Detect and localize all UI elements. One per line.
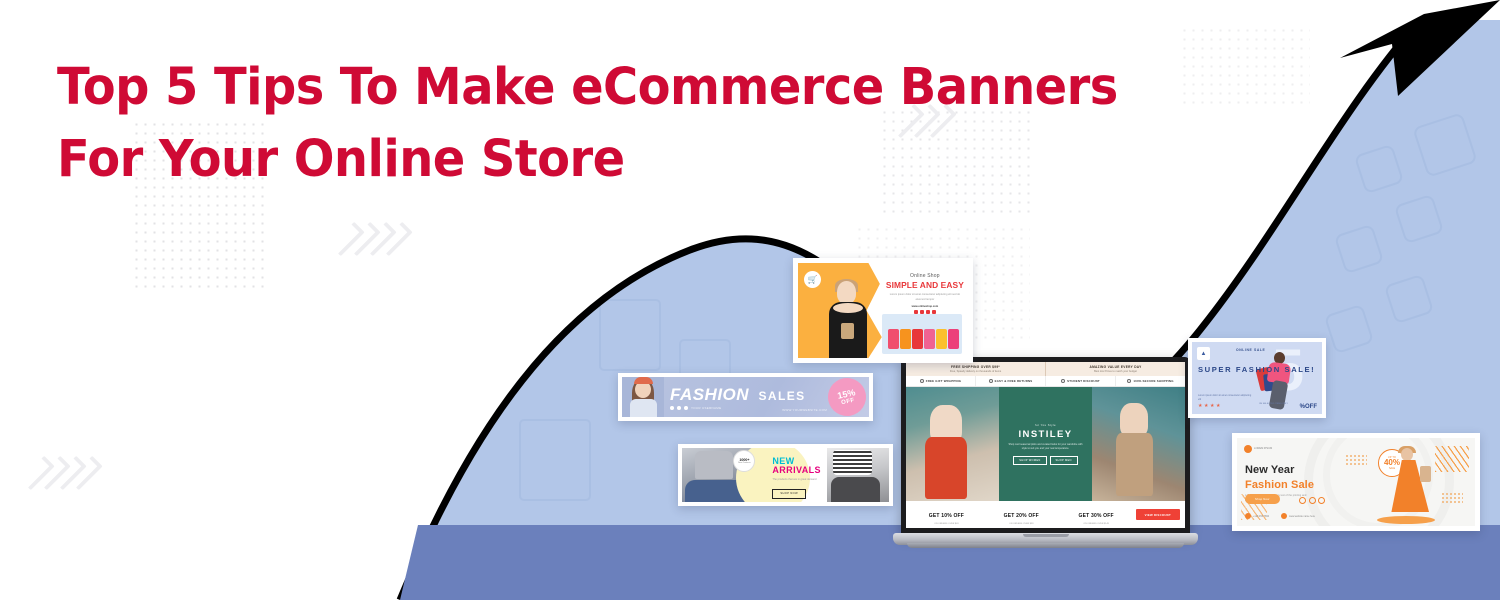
banner-kicker: Online Shop <box>886 273 964 279</box>
promo-label: GET 30% OFF <box>1079 513 1114 519</box>
topbar-sub: Best low Prices to match your budget <box>1048 370 1183 373</box>
banner-title-primary: New Year <box>1245 464 1295 476</box>
banner-new-arrivals[interactable]: 1000+ New Products NEW ARRIVALS The prod… <box>678 444 893 506</box>
hero-image-right <box>1092 387 1185 501</box>
banner-handle: YOUR USERNAME <box>691 406 721 410</box>
hero-buttons: SHOP WOMEN SHOP MEN <box>1013 456 1077 465</box>
topbar-item: FREE SHIPPING OVER $99* Free, Speedy del… <box>906 362 1045 376</box>
topbar-title: FREE SHIPPING OVER $99* <box>908 365 1043 369</box>
shop-now-button[interactable]: Shop Now <box>1245 494 1280 504</box>
banner-title-secondary: SALES <box>759 389 806 403</box>
banner-title-secondary: ARRIVALS <box>772 466 821 475</box>
hatch-pattern <box>1435 446 1469 472</box>
store-promo-bar: GET 10% OFF ON ORDERS OVER $49 GET 20% O… <box>906 501 1185 528</box>
badge-label: New Products <box>738 462 750 464</box>
banner-url: www.onlineshop.com <box>886 305 964 308</box>
social-icons[interactable] <box>1299 497 1325 504</box>
brand-logo: LOREM IPSUM <box>1244 445 1272 453</box>
promo-note: ON ORDERS OVER $149 <box>1061 523 1132 525</box>
promo-label: GET 20% OFF <box>1004 513 1039 519</box>
store-feature-row: FREE GIFT WRAPPING EASY & FREE RETURNS S… <box>906 376 1185 387</box>
feature-item[interactable]: STUDENT DISCOUNT <box>1045 376 1115 386</box>
feature-label: FREE GIFT WRAPPING <box>926 379 961 383</box>
topbar-sub: Free, Speedy delivery on thousands of it… <box>908 370 1043 373</box>
banner-body: Lorem ipsum dolor sit amet consectetur a… <box>886 293 964 302</box>
laptop-foot <box>907 543 1184 548</box>
phone-icon <box>1245 513 1251 519</box>
promo-note: ON ORDERS OVER $49 <box>911 523 982 525</box>
promo-item[interactable]: GET 20% OFF ON ORDERS OVER $99 <box>986 504 1057 525</box>
shop-women-button[interactable]: SHOP WOMEN <box>1013 456 1046 465</box>
banner-title: SUPER FASHION SALE! <box>1198 366 1315 375</box>
hero-brand: INSTILEY <box>1019 429 1073 440</box>
phone-number: +123 456 7890 <box>1253 515 1269 518</box>
banner-simple-and-easy[interactable]: 🛒 Online Shop SIMPLE AND EASY Lorem ipsu… <box>793 258 973 363</box>
banner-sub: Lorem ipsum dolor sit amet consectetur a… <box>1198 394 1254 402</box>
website-url: www.website name here <box>1289 515 1315 518</box>
gift-icon <box>920 379 924 383</box>
hero-kicker: for You Style <box>1035 423 1056 427</box>
store-topbar: FREE SHIPPING OVER $99* Free, Speedy del… <box>906 362 1185 376</box>
return-icon <box>989 379 993 383</box>
lock-icon <box>1127 379 1131 383</box>
discount-badge: 15% OFF <box>824 377 869 417</box>
shopping-cart-icon: 🛒 <box>804 271 821 288</box>
chevrons-right-icon <box>30 456 93 490</box>
banner-sub: The products that are in great demand <box>772 478 821 481</box>
banner-title-secondary: Fashion Sale <box>1245 479 1314 491</box>
globe-icon <box>1281 513 1287 519</box>
shop-men-button[interactable]: SHOP MEN <box>1050 456 1078 465</box>
website-item: www.website name here <box>1281 513 1315 519</box>
contact-row: +123 456 7890 www.website name here <box>1245 513 1315 519</box>
model-photo <box>1387 448 1431 520</box>
model-photo <box>622 377 664 417</box>
feature-label: EASY & FREE RETURNS <box>995 379 1033 383</box>
feature-item[interactable]: FREE GIFT WRAPPING <box>906 376 975 386</box>
dot-grid-pattern <box>1345 454 1367 466</box>
feature-item[interactable]: 100% SECURE SHOPPING <box>1115 376 1185 386</box>
model-photo <box>828 281 868 358</box>
hero-banner-canvas: Top 5 Tips To Make eCommerce Banners For… <box>0 0 1500 600</box>
hero-image-left <box>906 387 999 501</box>
topbar-title: AMAZING VALUE EVERY DAY <box>1048 365 1183 369</box>
page-title: Top 5 Tips To Make eCommerce Banners For… <box>57 52 1213 197</box>
brand-name: LOREM IPSUM <box>1254 447 1272 451</box>
feature-label: 100% SECURE SHOPPING <box>1133 379 1173 383</box>
dot-grid-pattern <box>1441 492 1463 504</box>
laptop-mockup: FREE SHIPPING OVER $99* Free, Speedy del… <box>893 357 1198 557</box>
brand-logo-icon: ▲ <box>1197 347 1210 360</box>
promo-label: GET 10% OFF <box>929 513 964 519</box>
student-icon <box>1061 379 1065 383</box>
banner-note: ON SELECTED ITEMS ONLY <box>1259 403 1288 407</box>
view-discount-button[interactable]: VIEW DISCOUNT <box>1136 509 1180 520</box>
banner-super-fashion-sale[interactable]: 5 ▲ ONLINE SALE SUPER FASHION SALE! Lore… <box>1188 338 1326 418</box>
banner-fashion-sales[interactable]: FASHION SALES YOUR USERNAME WWW.YOURWEBS… <box>618 373 873 421</box>
chevrons-right-icon <box>340 222 403 256</box>
store-hero: for You Style INSTILEY Shop cool seasona… <box>906 387 1185 501</box>
logo-mark-icon <box>1244 445 1252 453</box>
banner-url: WWW.YOURWEBSITE.COM <box>782 408 827 412</box>
promo-note: ON ORDERS OVER $99 <box>986 523 1057 525</box>
hero-brand-panel: for You Style INSTILEY Shop cool seasona… <box>999 387 1092 501</box>
promo-item[interactable]: GET 30% OFF ON ORDERS OVER $149 <box>1061 504 1132 525</box>
banner-new-year-fashion-sale[interactable]: LOREM IPSUM New Year Fashion Sale Lorem … <box>1232 433 1480 531</box>
feature-item[interactable]: EASY & FREE RETURNS <box>975 376 1045 386</box>
banner-title-primary: FASHION <box>670 385 749 404</box>
banner-title: SIMPLE AND EASY <box>886 280 964 290</box>
phone-item: +123 456 7890 <box>1245 513 1269 519</box>
shopping-bags-photo <box>882 314 962 354</box>
shop-now-button[interactable]: SHOP NOW <box>772 489 806 499</box>
laptop-screen: FREE SHIPPING OVER $99* Free, Speedy del… <box>906 362 1185 528</box>
promo-item[interactable]: GET 10% OFF ON ORDERS OVER $49 <box>911 504 982 525</box>
feature-label: STUDENT DISCOUNT <box>1067 379 1100 383</box>
rating-stars-icon: ★★★★ <box>1198 403 1220 409</box>
laptop-lid: FREE SHIPPING OVER $99* Free, Speedy del… <box>901 357 1190 535</box>
discount-label: %OFF <box>1300 404 1317 410</box>
topbar-item: AMAZING VALUE EVERY DAY Best low Prices … <box>1045 362 1185 376</box>
model-photo-right <box>827 448 889 502</box>
hero-description: Shop cool seasonal picks and curated loo… <box>1007 443 1085 452</box>
discount-label: OFF <box>841 398 855 407</box>
